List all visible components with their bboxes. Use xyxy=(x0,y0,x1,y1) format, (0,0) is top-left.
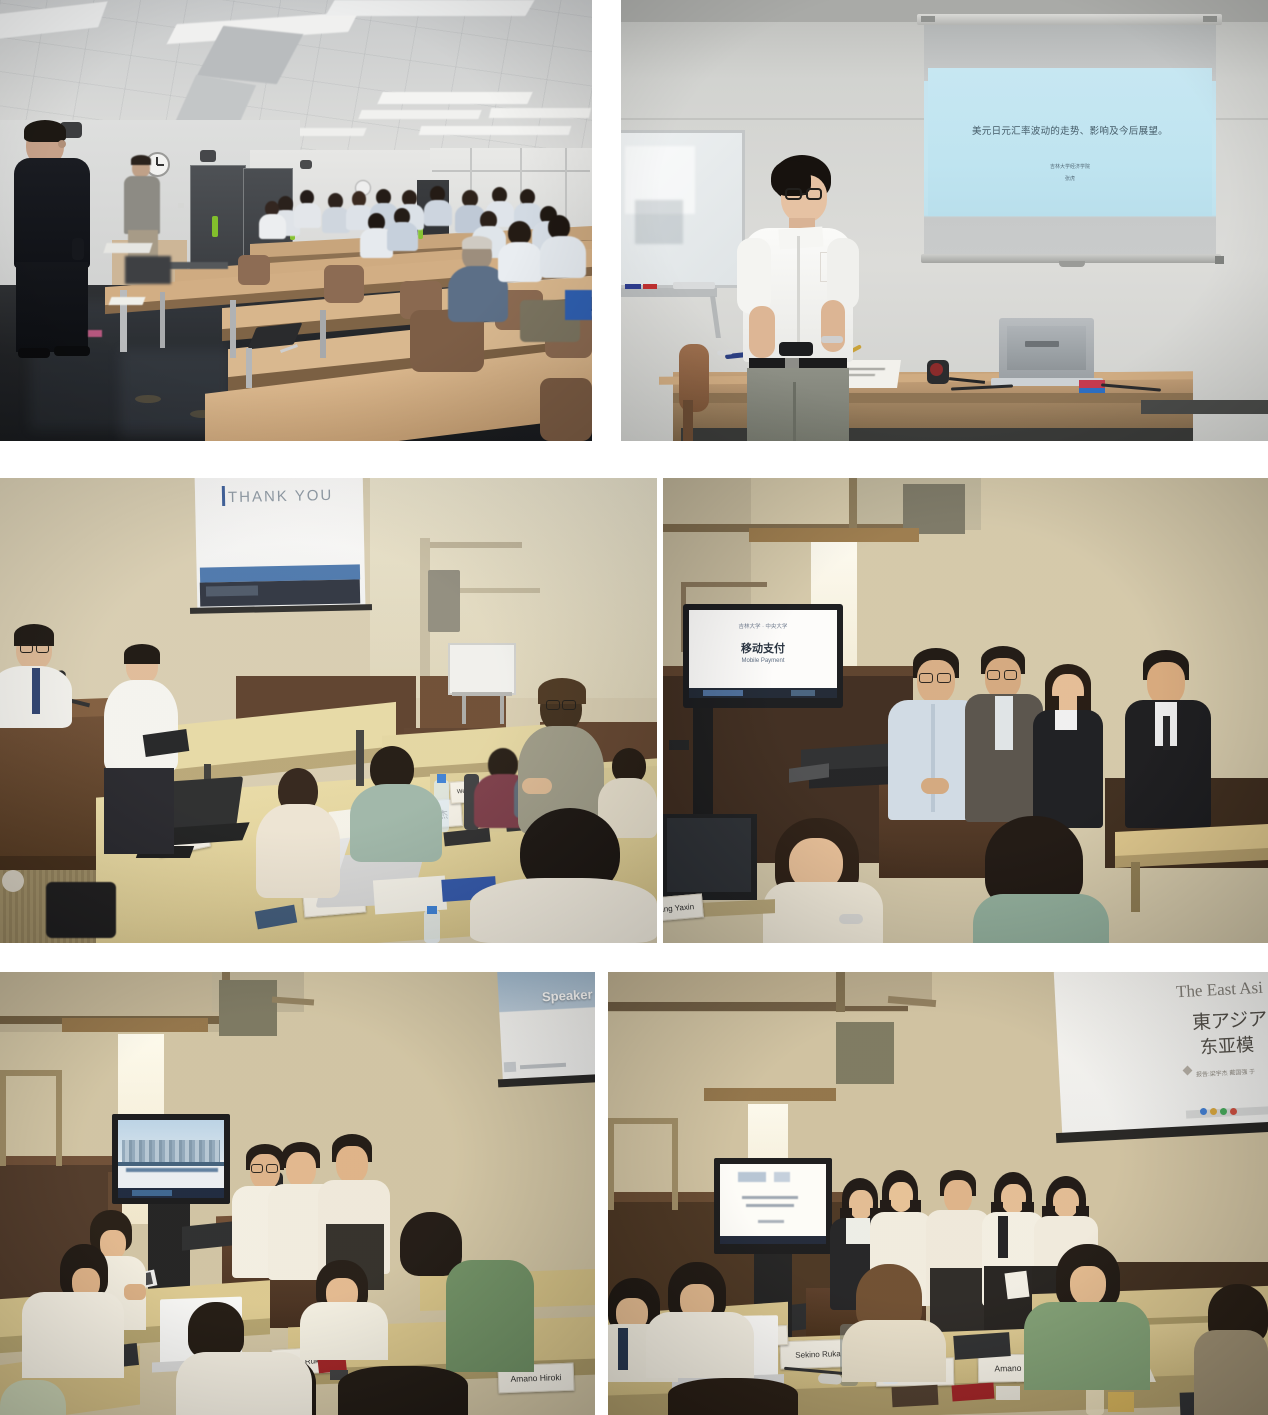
photo-panel-lecture-hall[interactable] xyxy=(0,0,592,441)
photo-collage: 美元日元汇率波动的走势、影响及今后展望。 吉林大学经济学院 张虎 xyxy=(0,0,1268,1415)
photo-panel-presenter-slide[interactable]: 美元日元汇率波动的走势、影响及今后展望。 吉林大学经济学院 张虎 xyxy=(621,0,1268,441)
photo-panel-east-asia-session[interactable]: The East Asi 東アジア 东亚模 报告:梁宇杰 戴国强 于 xyxy=(608,972,1268,1415)
photo-panel-mobile-payment[interactable]: 吉林大学 · 中央大学 移动支付 Mobile Payment xyxy=(663,478,1268,943)
photo-panel-speaker-session[interactable]: Speaker xyxy=(0,972,595,1415)
photo-panel-thank-you-session[interactable]: THANK YOU xyxy=(0,478,657,943)
